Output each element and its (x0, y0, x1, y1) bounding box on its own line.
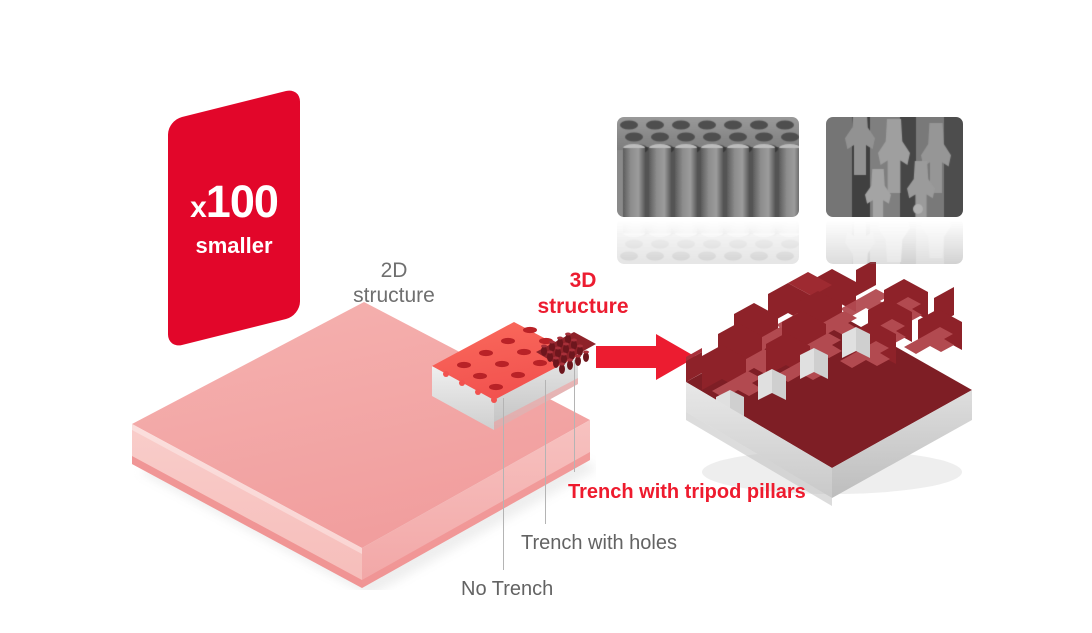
sem-tripod-pillars-image (826, 117, 963, 217)
label-trench-with-tripod-pillars: Trench with tripod pillars (568, 481, 806, 504)
label-2d-line1: 2D (349, 258, 439, 283)
leader-line-trench-with-tripod-pillars (574, 360, 575, 472)
leader-line-trench-with-holes (545, 380, 546, 524)
x100-smaller-badge: x100 smaller (168, 104, 300, 332)
label-2d-structure: 2D structure (349, 258, 439, 308)
sem-pillars-array-reflection (617, 218, 799, 264)
label-3d-structure: 3D structure (524, 268, 642, 320)
label-3d-line1: 3D (524, 268, 642, 294)
sem-pillars-array-image (617, 117, 799, 217)
leader-line-no-trench (503, 398, 504, 570)
inset-trench-with-holes (428, 318, 598, 438)
label-no-trench: No Trench (461, 578, 553, 601)
sem-tripod-pillars-reflection (826, 218, 963, 264)
figure-canvas: x100 smaller (0, 0, 1092, 633)
label-trench-with-holes: Trench with holes (521, 532, 677, 555)
label-2d-line2: structure (349, 283, 439, 308)
three-d-structure-block (672, 262, 992, 512)
label-3d-line2: structure (524, 294, 642, 320)
